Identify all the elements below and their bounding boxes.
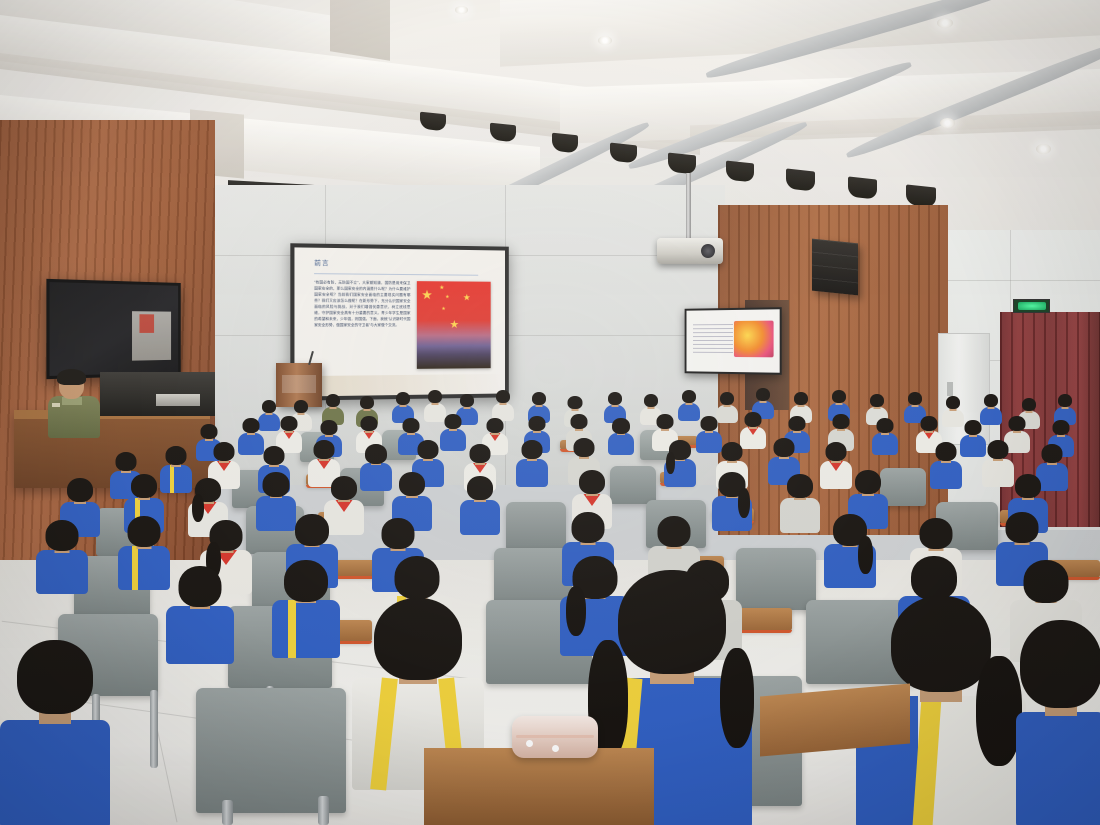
student — [272, 560, 340, 656]
student — [712, 472, 752, 530]
student — [930, 442, 962, 488]
student — [664, 440, 696, 486]
student — [460, 476, 500, 534]
student-foreground-far-right — [1016, 620, 1100, 825]
student — [492, 390, 514, 420]
student-foreground-far-left — [0, 640, 110, 825]
student — [824, 514, 876, 586]
student — [118, 516, 170, 588]
student — [872, 418, 898, 454]
student — [36, 520, 88, 592]
audience — [0, 0, 1100, 825]
pencil-case — [512, 716, 598, 758]
desk-tablet-front — [424, 748, 654, 825]
student — [608, 418, 634, 454]
lecture-hall-photo: 前言 “有国必有防，无防国不立”，大家都知道，国防是用来保卫国家安全的，那么国家… — [0, 0, 1100, 825]
student — [360, 444, 392, 490]
student — [516, 440, 548, 486]
student — [780, 474, 820, 532]
student — [166, 566, 234, 662]
